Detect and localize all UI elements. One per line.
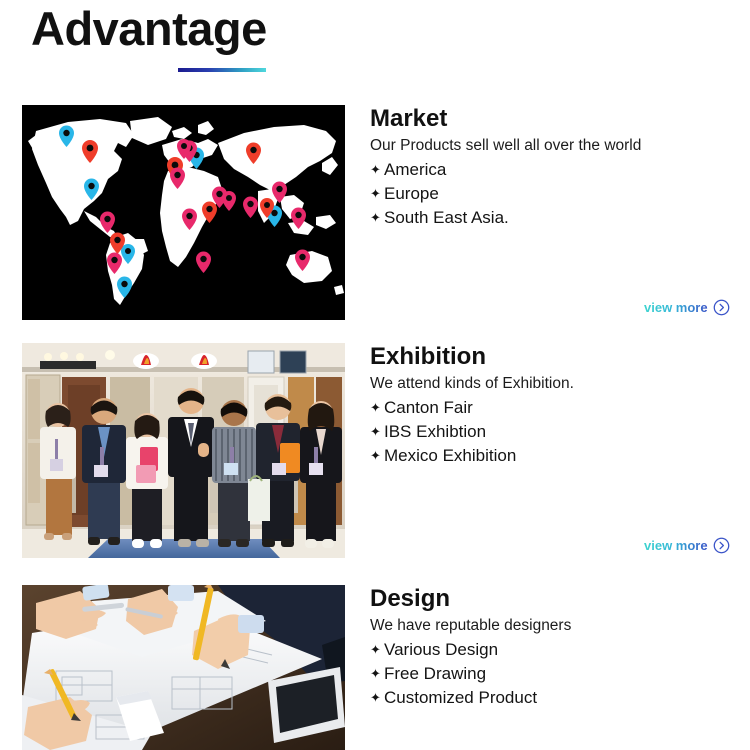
bullet-diamond-icon: ✦ [370, 662, 381, 686]
chevron-right-circle-icon [713, 299, 730, 316]
list-item-label: Mexico Exhibition [384, 446, 516, 465]
list-item: ✦Various Design [370, 638, 744, 662]
list-item: ✦Mexico Exhibition [370, 444, 744, 468]
title-underline-gradient [178, 68, 266, 72]
list-item-label: IBS Exhibtion [384, 422, 486, 441]
bullet-diamond-icon: ✦ [370, 158, 381, 182]
list-item-label: South East Asia. [384, 208, 509, 227]
bullet-diamond-icon: ✦ [370, 396, 381, 420]
list-item: ✦Customized Product [370, 686, 744, 710]
section-title: Design [370, 585, 744, 613]
list-item: ✦America [370, 158, 744, 182]
design-info: Design We have reputable designers ✦Vari… [370, 585, 744, 710]
bullet-diamond-icon: ✦ [370, 206, 381, 230]
view-more-link-exhibition[interactable]: view more [644, 537, 730, 554]
list-item-label: America [384, 160, 446, 179]
view-more-label: view more [644, 300, 708, 315]
market-info: Market Our Products sell well all over t… [370, 105, 744, 230]
view-more-label: view more [644, 538, 708, 553]
list-item: ✦South East Asia. [370, 206, 744, 230]
bullet-diamond-icon: ✦ [370, 686, 381, 710]
design-bullet-list: ✦Various Design ✦Free Drawing ✦Customize… [370, 638, 744, 710]
bullet-diamond-icon: ✦ [370, 420, 381, 444]
list-item-label: Customized Product [384, 688, 537, 707]
list-item-label: Free Drawing [384, 664, 486, 683]
exhibition-info: Exhibition We attend kinds of Exhibition… [370, 343, 744, 468]
list-item-label: Canton Fair [384, 398, 473, 417]
list-item-label: Europe [384, 184, 439, 203]
list-item: ✦Europe [370, 182, 744, 206]
section-subtitle: Our Products sell well all over the worl… [370, 135, 744, 157]
view-more-link-market[interactable]: view more [644, 299, 730, 316]
section-title: Market [370, 105, 744, 133]
exhibition-bullet-list: ✦Canton Fair ✦IBS Exhibtion ✦Mexico Exhi… [370, 396, 744, 468]
advantage-page: Advantage [0, 0, 750, 750]
world-map-with-location-pins [22, 105, 345, 320]
page-title: Advantage [31, 2, 267, 56]
bullet-diamond-icon: ✦ [370, 638, 381, 662]
section-subtitle: We have reputable designers [370, 615, 744, 637]
section-title: Exhibition [370, 343, 744, 371]
bullet-diamond-icon: ✦ [370, 444, 381, 468]
list-item-label: Various Design [384, 640, 498, 659]
section-subtitle: We attend kinds of Exhibition. [370, 373, 744, 395]
designers-drawing-blueprints [22, 585, 345, 750]
list-item: ✦Free Drawing [370, 662, 744, 686]
exhibition-team-photo [22, 343, 345, 558]
chevron-right-circle-icon [713, 537, 730, 554]
list-item: ✦IBS Exhibtion [370, 420, 744, 444]
list-item: ✦Canton Fair [370, 396, 744, 420]
market-bullet-list: ✦America ✦Europe ✦South East Asia. [370, 158, 744, 230]
bullet-diamond-icon: ✦ [370, 182, 381, 206]
